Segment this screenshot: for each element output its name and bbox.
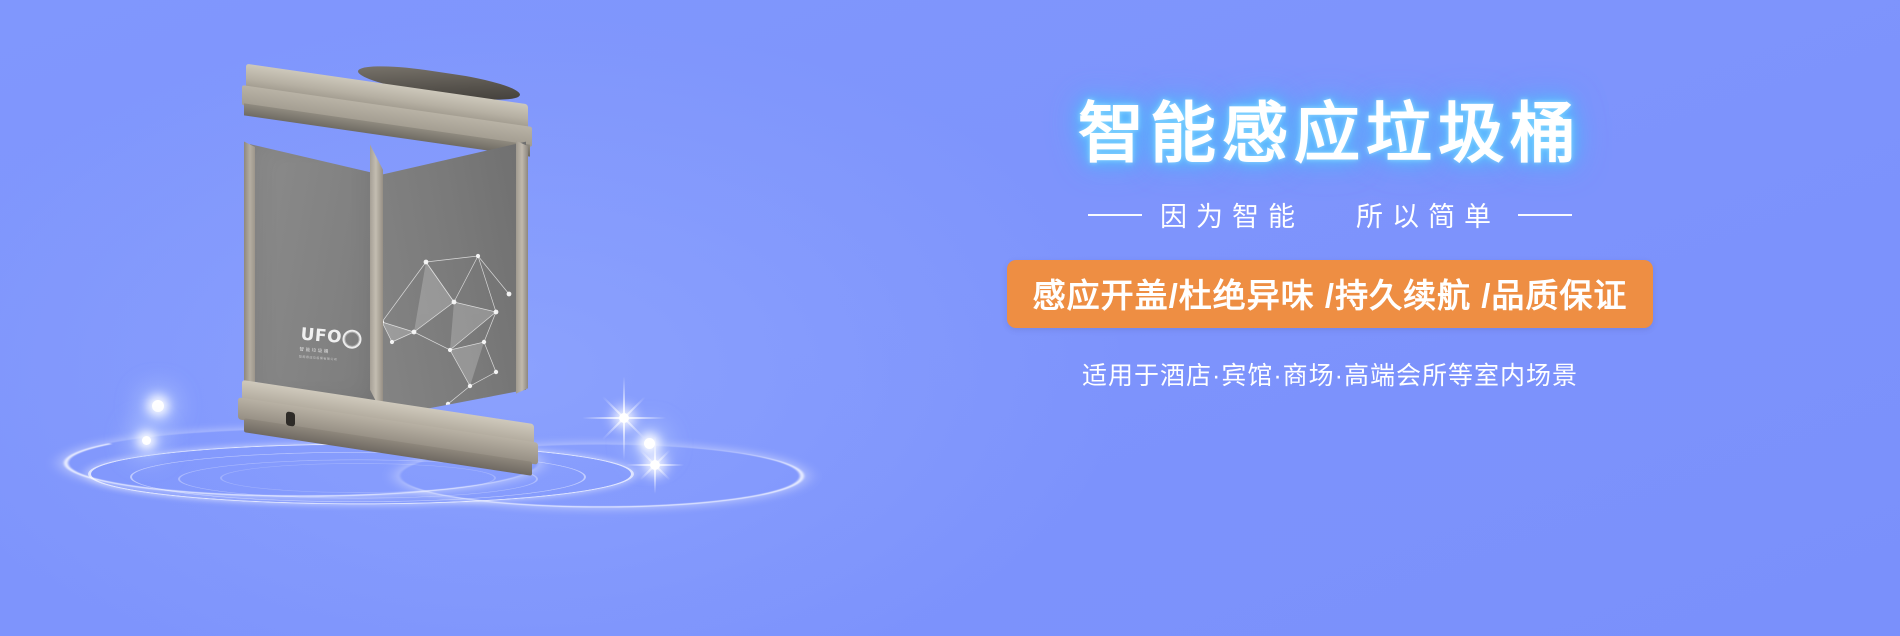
bin-right-edge-trim bbox=[516, 138, 528, 410]
sensor-port-icon bbox=[286, 411, 295, 426]
bin-corner-pillar bbox=[370, 136, 383, 418]
bin-left-edge-trim bbox=[244, 136, 255, 410]
subtitle-rule-left bbox=[1088, 214, 1142, 216]
marketing-copy-block: 智能感应垃圾桶 因为智能 所以简单 感应开盖/杜绝异味 /持久续航 /品质保证 … bbox=[880, 96, 1780, 392]
glow-dot-icon bbox=[644, 438, 655, 449]
usage-scenes-text: 适用于酒店·宾馆·商场·高端会所等室内场景 bbox=[880, 356, 1780, 392]
glow-dot-icon bbox=[142, 436, 151, 445]
feature-highlight-badge: 感应开盖/杜绝异味 /持久续航 /品质保证 bbox=[1007, 260, 1654, 328]
sparkle-star-icon bbox=[626, 436, 684, 494]
bin-side-face bbox=[378, 136, 526, 418]
subtitle-part-b: 所以简单 bbox=[1356, 195, 1500, 234]
brand-logo-text: UFO bbox=[300, 327, 343, 347]
polygon-network-graphic bbox=[378, 136, 526, 418]
ripple-ring-4 bbox=[220, 463, 496, 493]
ripple-ring-1 bbox=[88, 444, 634, 505]
product-visual-stage: UFO 智能垃圾桶 智能感应垃圾桶有限公司 bbox=[70, 24, 770, 612]
subtitle-part-a: 因为智能 bbox=[1160, 195, 1304, 234]
trash-bin-product-image: UFO 智能垃圾桶 智能感应垃圾桶有限公司 bbox=[242, 66, 542, 446]
page-title: 智能感应垃圾桶 bbox=[880, 96, 1780, 171]
brand-logo: UFO 智能垃圾桶 智能感应垃圾桶有限公司 bbox=[299, 326, 363, 364]
bin-front-face bbox=[250, 136, 378, 408]
product-hero-banner: UFO 智能垃圾桶 智能感应垃圾桶有限公司 智能感应垃圾桶 因为智能 所以简单 … bbox=[0, 0, 1900, 636]
logo-ring-icon bbox=[342, 329, 362, 349]
subtitle-line: 因为智能 所以简单 bbox=[880, 195, 1780, 234]
glow-dot-icon bbox=[152, 400, 164, 412]
subtitle-rule-right bbox=[1518, 214, 1572, 216]
sparkle-star-icon bbox=[582, 376, 666, 460]
